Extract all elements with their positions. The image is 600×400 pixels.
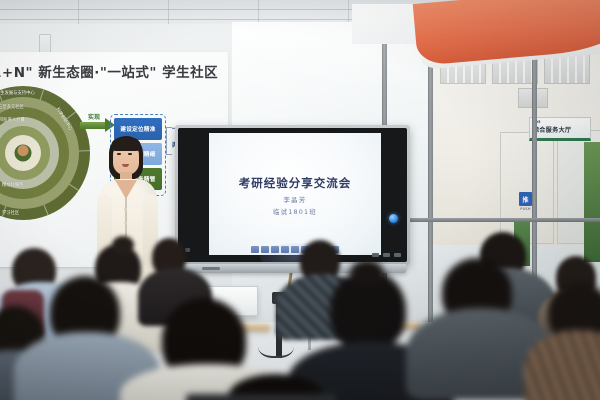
chair-back bbox=[186, 394, 336, 400]
push-sign-icon: 推 bbox=[519, 192, 532, 206]
power-indicator-icon[interactable] bbox=[389, 214, 398, 223]
teacher-eye-left bbox=[117, 153, 121, 155]
teacher-vneck bbox=[115, 180, 137, 199]
hedge-right bbox=[584, 142, 600, 262]
ring-label-mid-1: 四股育人力量 bbox=[0, 117, 25, 123]
student-hairbun-9 bbox=[350, 260, 384, 286]
arrow-label: 实现 bbox=[88, 112, 100, 121]
slide-presenter-name: 李晶芳 bbox=[209, 195, 381, 204]
projection-slide[interactable]: 考研经验分享交流会 李晶芳 临试1801班 bbox=[209, 133, 381, 255]
teacher-eye-right bbox=[128, 153, 132, 155]
ring-label-inner-0: 精准化服务 bbox=[2, 182, 23, 188]
audience-row-front bbox=[0, 276, 600, 400]
teacher-bangs bbox=[111, 138, 141, 151]
poster-title: 1+N" 新生态圈·"一站式" 学生社区 bbox=[0, 61, 222, 81]
classroom-scene: 1+N" 新生态圈·"一站式" 学生社区 学生发展与支持中心 学生事务服务中心 … bbox=[0, 0, 600, 400]
ring-center-avatar bbox=[15, 145, 32, 162]
ring-diagram: 学生发展与支持中心 学生事务服务中心 科学创新中心 党建引领 学习社区 五型多元… bbox=[0, 86, 90, 220]
hall-sign-number: 105 bbox=[533, 120, 587, 124]
hall-sign-text: 综合服务大厅 bbox=[533, 125, 587, 134]
ring-label-outer-4: 学习社区 bbox=[2, 210, 19, 216]
smart-board-bezel: 考研经验分享交流会 李晶芳 临试1801班 bbox=[178, 128, 407, 262]
service-hall-sign: 105 综合服务大厅 bbox=[529, 117, 591, 141]
ring-label-mid-0: 五型多元社区 bbox=[0, 104, 24, 110]
student-hairbun-1 bbox=[112, 236, 134, 254]
smart-board[interactable]: 考研经验分享交流会 李晶芳 临试1801班 bbox=[175, 125, 410, 265]
slide-title: 考研经验分享交流会 bbox=[209, 175, 381, 191]
slide-presenter-class: 临试1801班 bbox=[209, 207, 381, 216]
ring-label-outer-0: 学生发展与支持中心 bbox=[0, 90, 35, 96]
